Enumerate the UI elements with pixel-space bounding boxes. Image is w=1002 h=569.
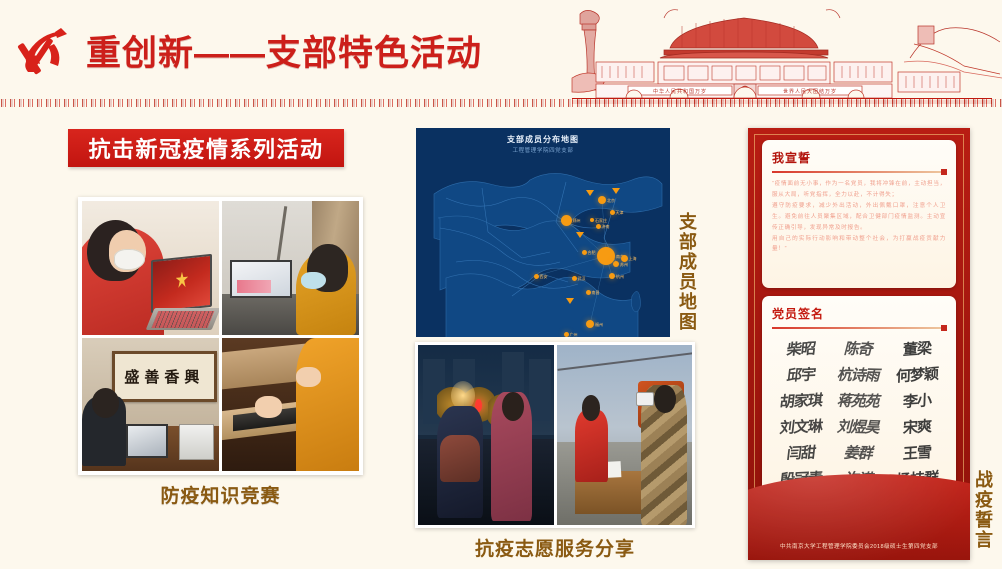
signature-item: 宋爽	[903, 415, 932, 438]
signature-item: 何梦颖	[896, 362, 939, 386]
oath-line: “疫情面前无小事，作为一名党员，我将冲锋在前，主动担当，服从大局，听党指挥，全力…	[772, 179, 946, 201]
map-marker-pin	[612, 188, 620, 194]
pledge-panel: 我宣誓 “疫情面前无小事，作为一名党员，我将冲锋在前，主动担当，服从大局，听党指…	[748, 128, 970, 560]
vertical-label-oath: 战疫誓言	[972, 470, 996, 550]
signature-item: 杭诗雨	[835, 363, 882, 385]
caption-volunteer: 抗疫志愿服务分享	[415, 534, 695, 561]
map-marker-pin	[576, 232, 584, 238]
vertical-label-member-map: 支部成员地图	[676, 212, 700, 332]
page-title: 重创新——支部特色活动	[86, 36, 482, 71]
header-ornament-rule	[0, 99, 1002, 107]
signature-item: 闫甜	[786, 441, 817, 463]
map-marker-label: 上海	[629, 256, 637, 262]
map-marker	[586, 290, 591, 295]
map-marker-label: 北京	[607, 198, 615, 204]
map-marker	[586, 320, 594, 328]
map-marker-label: 武汉	[578, 276, 586, 282]
map-subtitle: 工程管理学院四党支部	[416, 146, 670, 154]
photo-woman-red-laptop	[82, 201, 219, 335]
photo-collage-quiz	[78, 197, 363, 475]
signature-title: 党员签名	[772, 305, 946, 322]
map-marker-label: 合肥	[588, 250, 596, 256]
signature-divider	[772, 327, 946, 329]
map-marker-label: 杭州	[616, 274, 624, 280]
map-marker	[613, 261, 619, 267]
signature-item: 柴昭	[786, 337, 817, 359]
photo-boy-desk-mask	[222, 201, 359, 335]
pledge-footer: 中共南京大学工程管理学院委员会2018级硕士生第四党支部	[748, 542, 970, 550]
signature-item: 姜群	[842, 441, 875, 463]
signature-item: 陈奇	[842, 337, 875, 359]
map-marker	[609, 273, 615, 279]
section-ribbon-epidemic: 抗击新冠疫情系列活动	[68, 129, 344, 167]
map-marker-pin	[586, 190, 594, 196]
hammer-and-sickle-icon	[14, 24, 76, 82]
oath-divider	[772, 171, 946, 173]
oath-card: 我宣誓 “疫情面前无小事，作为一名党员，我将冲锋在前，主动担当，服从大局，听党指…	[762, 140, 956, 288]
map-marker	[534, 274, 539, 279]
signature-item: 王雪	[903, 441, 932, 464]
map-marker	[561, 215, 572, 226]
map-marker	[621, 255, 628, 262]
map-marker	[598, 196, 606, 204]
map-marker	[590, 218, 594, 222]
map-marker-label: 广州	[570, 332, 578, 337]
map-marker-label: 郑州	[573, 218, 581, 224]
photo-calligraphy-room	[82, 338, 219, 472]
oath-line: 遵守防疫要求，减少外出活动，外出佩戴口罩，注意个人卫生。避免前往人员聚集区域，配…	[772, 201, 946, 234]
photo-night-checkpoint	[418, 345, 554, 525]
tiananmen-gate-illustration: 中华人民共和国万岁 世界人民大团结万岁 COMMUNIST PARTY OF C…	[552, 0, 1002, 104]
map-title: 支部成员分布地图	[416, 134, 670, 145]
map-marker	[582, 250, 587, 255]
map-marker-label: 苏州	[620, 262, 628, 268]
oath-body: “疫情面前无小事，作为一名党员，我将冲锋在前，主动担当，服从大局，听党指挥，全力…	[772, 179, 946, 255]
map-marker-label: 济南	[602, 224, 610, 230]
map-marker-label: 西安	[540, 274, 548, 280]
signature-item: 刘文琳	[779, 415, 824, 438]
map-marker	[610, 210, 615, 215]
photo-collage-volunteer	[415, 342, 695, 528]
map-marker	[596, 224, 601, 229]
svg-text:世界人民大团结万岁: 世界人民大团结万岁	[783, 88, 837, 95]
ribbon-label: 抗击新冠疫情系列活动	[88, 132, 323, 164]
map-marker-label: 福州	[595, 322, 603, 328]
oath-line: 用自己的实际行动影响和带动整个社会，为打赢战疫贡献力量！”	[772, 234, 946, 256]
signature-item: 胡家琪	[779, 389, 824, 412]
oath-title: 我宣誓	[772, 149, 946, 166]
member-distribution-map: 支部成员分布地图 工程管理学院四党支部 北京天津石家庄郑州济南合肥南京上海苏州杭…	[416, 128, 670, 337]
signature-item: 邱宇	[786, 363, 817, 385]
photo-hands-keyboard	[222, 338, 359, 472]
map-marker-label: 南昌	[592, 290, 600, 296]
map-marker-pin	[566, 298, 574, 304]
caption-quiz: 防疫知识竞赛	[78, 481, 363, 508]
slide-canvas: 中华人民共和国万岁 世界人民大团结万岁 COMMUNIST PARTY OF C…	[0, 0, 1002, 569]
map-marker	[564, 332, 569, 337]
signature-item: 蒋苑苑	[835, 389, 882, 411]
signature-item: 刘煜昊	[835, 415, 882, 437]
map-marker-label: 天津	[616, 210, 624, 216]
map-marker	[572, 276, 577, 281]
photo-dusk-temperature-check	[557, 345, 693, 525]
svg-text:中华人民共和国万岁: 中华人民共和国万岁	[653, 88, 707, 95]
slide-header: 中华人民共和国万岁 世界人民大团结万岁 COMMUNIST PARTY OF C…	[0, 0, 1002, 100]
signature-item: 董梁	[903, 337, 932, 360]
signature-item: 李小	[903, 389, 932, 412]
